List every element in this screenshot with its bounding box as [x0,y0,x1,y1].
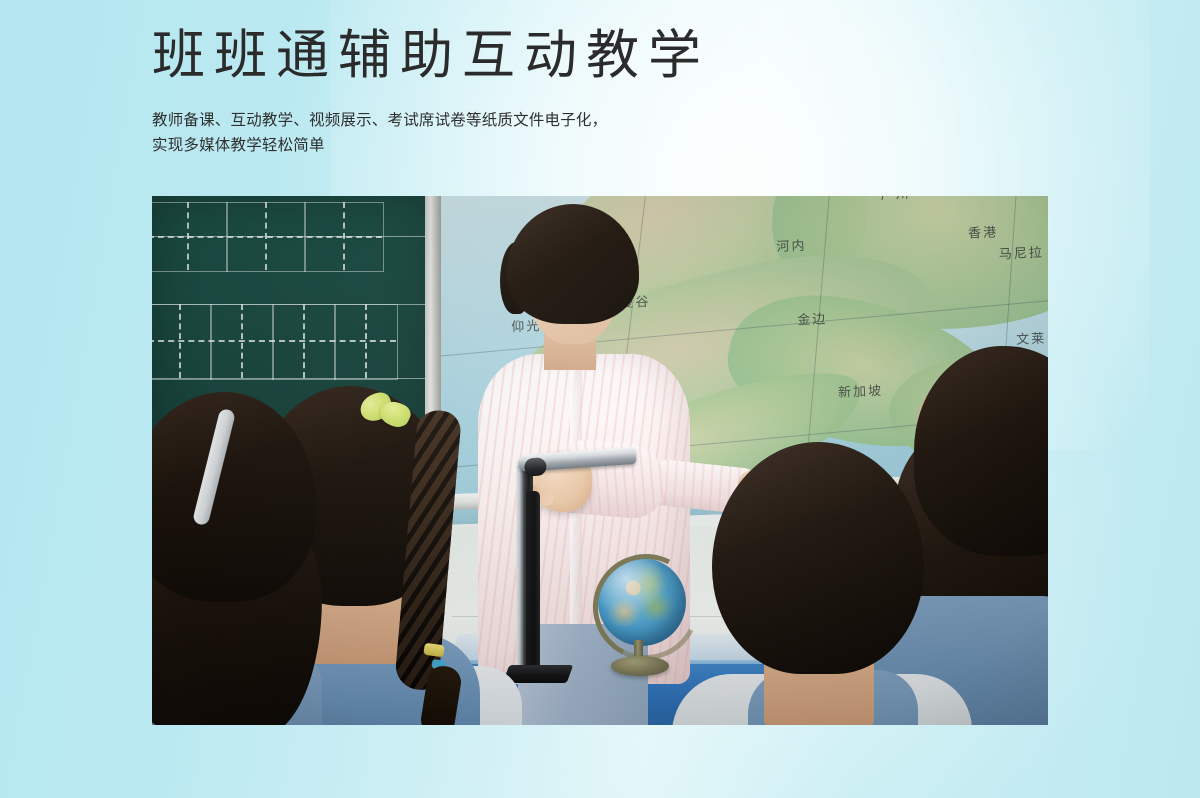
promo-banner: 班班通辅助互动教学 教师备课、互动教学、视频展示、考试席试卷等纸质文件电子化， … [0,0,1200,798]
map-label: 香港 [968,221,999,241]
practice-grid-cell [152,304,212,380]
practice-grid-dash [152,340,396,342]
page-title: 班班通辅助互动教学 [152,24,1052,88]
practice-grid-dash [265,202,267,270]
map-label: 马尼拉 [998,242,1044,263]
header-block: 班班通辅助互动教学 教师备课、互动教学、视频展示、考试席试卷等纸质文件电子化， … [152,24,1052,158]
practice-grid-dash [343,202,345,270]
globe [589,556,689,656]
practice-grid-dash [187,202,189,270]
page-subtitle-line-1: 教师备课、互动教学、视频展示、考试席试卷等纸质文件电子化， [152,108,1052,133]
practice-grid-dash [303,304,305,378]
photo-canvas: 广州 香港 河内 曼谷 仰光 金边 吉隆坡 新加坡 马尼拉 文莱 [152,196,1048,725]
document-camera-column-shade [526,491,540,673]
map-label: 金边 [797,308,828,328]
map-label: 新加坡 [838,380,884,401]
practice-grid-dash [365,304,367,378]
page-subtitle-line-2: 实现多媒体教学轻松简单 [152,133,1052,158]
student-braid-hair-tie [423,643,444,658]
practice-grid-dash [179,304,181,378]
map-label: 河内 [776,235,807,255]
map-label: 文莱 [1016,328,1047,348]
document-camera-lens [524,457,547,476]
page-subtitle: 教师备课、互动教学、视频展示、考试席试卷等纸质文件电子化， 实现多媒体教学轻松简… [152,108,1052,158]
practice-grid-dash [241,304,243,378]
classroom-photo: 广州 香港 河内 曼谷 仰光 金边 吉隆坡 新加坡 马尼拉 文莱 [152,196,1048,725]
teacher-hair [507,204,639,324]
map-label: 广州 [880,196,911,203]
student-green-hair-bow [360,392,412,430]
globe-base [611,656,669,676]
document-camera-head [518,447,637,472]
